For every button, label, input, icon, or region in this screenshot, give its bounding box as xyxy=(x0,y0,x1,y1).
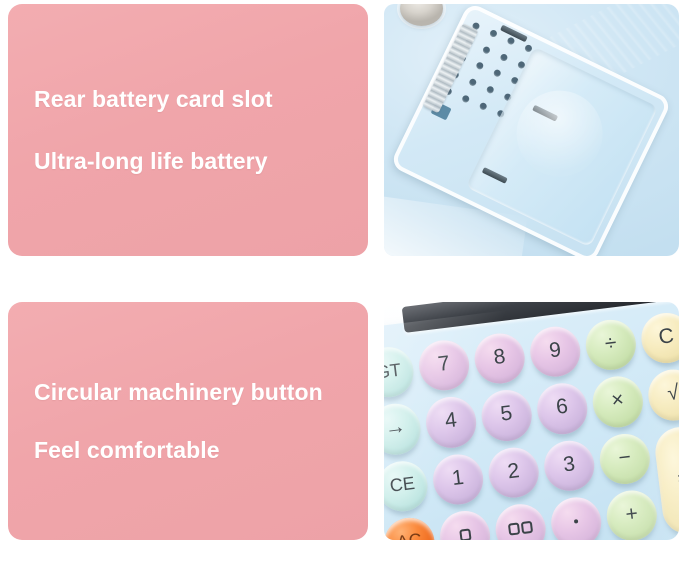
key-6-label: 6 xyxy=(555,395,570,420)
key-2-label: 2 xyxy=(506,459,521,484)
key-8[interactable]: 8 xyxy=(472,331,528,387)
key-double-zero[interactable] xyxy=(493,501,549,540)
feature-row-battery: Rear battery card slot Ultra-long life b… xyxy=(0,4,679,256)
calculator-body: GT789÷C→456×√CE123−=AC+ xyxy=(384,302,679,540)
key-sqrt-label: √ xyxy=(666,381,679,406)
key-double-zero-glyph xyxy=(508,521,533,536)
key-minus-label: − xyxy=(617,445,632,470)
key-2[interactable]: 2 xyxy=(486,444,542,500)
feature-row-buttons: Circular machinery button Feel comfortab… xyxy=(0,302,679,540)
key-divide[interactable]: ÷ xyxy=(583,317,639,373)
key-sqrt[interactable]: √ xyxy=(646,367,679,423)
key-minus[interactable]: − xyxy=(597,431,653,487)
key-ac[interactable]: AC xyxy=(384,515,437,540)
headline-rear-battery-card-slot: Rear battery card slot xyxy=(34,85,344,113)
key-decimal[interactable] xyxy=(548,494,604,540)
text-panel-buttons: Circular machinery button Feel comfortab… xyxy=(8,302,368,540)
key-7[interactable]: 7 xyxy=(416,337,472,393)
key-9[interactable]: 9 xyxy=(527,324,583,380)
key-ce[interactable]: CE xyxy=(384,458,430,514)
key-ce-label: CE xyxy=(389,473,416,497)
rubber-foot-stud xyxy=(400,4,443,26)
key-4[interactable]: 4 xyxy=(423,394,479,450)
key-c[interactable]: C xyxy=(639,310,679,366)
key-plus[interactable]: + xyxy=(604,487,660,540)
product-feature-collage: Rear battery card slot Ultra-long life b… xyxy=(0,0,679,562)
key-3[interactable]: 3 xyxy=(541,437,597,493)
key-gt[interactable]: GT xyxy=(384,344,416,400)
key-multiply[interactable]: × xyxy=(590,374,646,430)
key-gt-label: GT xyxy=(384,359,402,383)
headline-ultra-long-life-battery: Ultra-long life battery xyxy=(34,147,344,175)
headline-feel-comfortable: Feel comfortable xyxy=(34,436,344,464)
key-arrow-right[interactable]: → xyxy=(384,401,423,457)
key-0[interactable] xyxy=(437,508,493,540)
key-decimal-glyph xyxy=(574,519,578,523)
key-8-label: 8 xyxy=(492,345,507,370)
key-arrow-right-label: → xyxy=(384,415,407,441)
key-1-label: 1 xyxy=(451,465,466,490)
key-9-label: 9 xyxy=(548,338,563,363)
key-0-glyph xyxy=(459,528,471,540)
key-plus-label: + xyxy=(624,502,639,527)
key-6[interactable]: 6 xyxy=(534,381,590,437)
key-4-label: 4 xyxy=(444,409,459,434)
key-5-label: 5 xyxy=(499,402,514,427)
key-divide-label: ÷ xyxy=(604,331,618,356)
keypad-grid: GT789÷C→456×√CE123−=AC+ xyxy=(384,310,679,540)
key-5[interactable]: 5 xyxy=(479,387,535,443)
text-panel-battery: Rear battery card slot Ultra-long life b… xyxy=(8,4,368,256)
key-7-label: 7 xyxy=(437,352,452,377)
key-c-label: C xyxy=(657,324,675,350)
calculator-keypad-closeup-photo: GT789÷C→456×√CE123−=AC+ xyxy=(384,302,679,540)
key-1[interactable]: 1 xyxy=(430,451,486,507)
headline-circular-machinery-button: Circular machinery button xyxy=(34,378,344,406)
key-ac-label: AC xyxy=(396,530,423,540)
key-multiply-label: × xyxy=(610,388,625,413)
key-3-label: 3 xyxy=(562,452,577,477)
calculator-rear-battery-compartment-photo xyxy=(384,4,679,256)
